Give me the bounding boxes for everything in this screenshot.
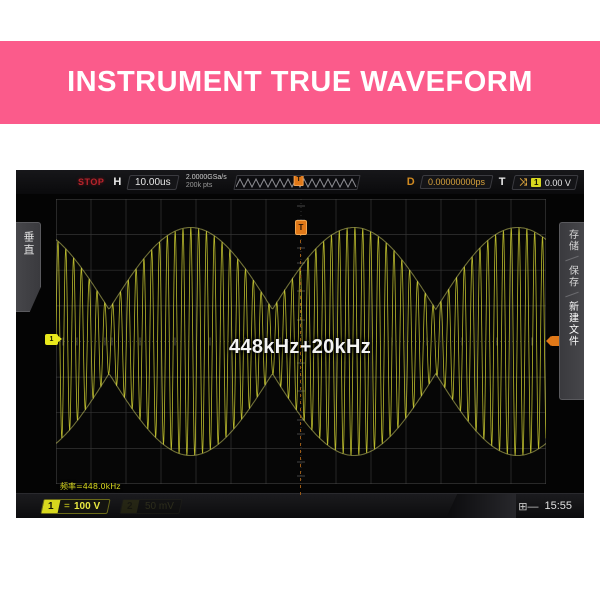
sidebar-item-new-file[interactable]: 新建文件 [565, 295, 580, 353]
usb-icon[interactable]: ⊞— [518, 500, 538, 513]
channel-1-badge[interactable]: 1 = 100 V [40, 499, 110, 514]
trigger-icon: T [499, 176, 506, 188]
trigger-position-line [300, 233, 301, 499]
delay-text: 0.00000000ps [428, 177, 485, 187]
trigger-settings-group[interactable]: ⤨ 1 0.00 V [511, 175, 579, 190]
channel-2-badge[interactable]: 2 50 mV [119, 499, 183, 514]
trigger-position-marker[interactable]: T [295, 220, 307, 235]
waveform-trace [56, 199, 546, 484]
oscilloscope-screen: STOP H 10.00us 2.0000GSa/s 200k pts T D … [16, 170, 584, 518]
channel-2-scale: 50 mV [136, 501, 181, 512]
channel-1-scale-text: 100 V [74, 501, 100, 512]
sidebar-item-save[interactable]: 保存 [565, 259, 580, 294]
memory-map-preview[interactable]: T [233, 175, 360, 190]
ch1-ground-marker-label: 1 [50, 336, 54, 343]
acquisition-info: 2.0000GSa/s 200k pts [186, 174, 227, 190]
run-state-indicator[interactable]: STOP [78, 177, 104, 187]
topbar-right-group: D 0.00000000ps T ⤨ 1 0.00 V [407, 175, 584, 190]
memory-depth-value: 200k pts [186, 182, 227, 190]
memory-map-position-marker[interactable]: T [293, 175, 303, 186]
clock-label: 15:55 [544, 500, 572, 512]
sample-rate-value: 2.0000GSa/s [186, 174, 227, 182]
scope-top-status-bar: STOP H 10.00us 2.0000GSa/s 200k pts T D … [16, 170, 584, 195]
trigger-level-value: 0.00 V [545, 177, 571, 187]
memory-map-marker-glyph: T [296, 176, 300, 183]
waveform-svg [56, 199, 546, 484]
trigger-slope-icon: ⤨ [519, 177, 527, 188]
horizontal-icon: H [113, 176, 121, 188]
timebase-text: 10.00us [135, 177, 171, 188]
page-root: INSTRUMENT TRUE WAVEFORM STOP H 10.00us … [0, 0, 600, 600]
channel-1-coupling-text: = [64, 501, 70, 512]
timebase-value[interactable]: 10.00us [127, 175, 180, 190]
sidebar-item-vertical[interactable]: 垂直 [16, 222, 41, 312]
page-title: INSTRUMENT TRUE WAVEFORM [67, 66, 533, 99]
waveform-display-area[interactable]: 448kHz+20kHz 1 T 频率=448.0kHz 垂直 存储 保存 新建… [16, 194, 584, 494]
bottombar-wedge [446, 494, 516, 518]
ch1-ground-marker[interactable]: 1 [45, 334, 58, 345]
frequency-measurement-readout: 频率=448.0kHz [60, 481, 120, 492]
banner: INSTRUMENT TRUE WAVEFORM [0, 41, 600, 124]
sidebar-item-vertical-label: 垂直 [20, 231, 36, 257]
channel-2-number-text: 2 [127, 501, 133, 512]
trigger-position-marker-label: T [299, 223, 304, 232]
bottombar-right-group: ⊞— 15:55 [518, 500, 584, 513]
trigger-source-badge: 1 [531, 178, 541, 187]
channel-1-scale: 100 V [73, 501, 108, 512]
sidebar-right-menu[interactable]: 存储 保存 新建文件 [559, 222, 584, 400]
delay-value[interactable]: 0.00000000ps [419, 175, 493, 189]
channel-2-scale-text: 50 mV [144, 501, 173, 512]
channel-1-number-text: 1 [48, 501, 54, 512]
delay-icon: D [407, 176, 415, 188]
sidebar-item-storage[interactable]: 存储 [565, 223, 580, 258]
